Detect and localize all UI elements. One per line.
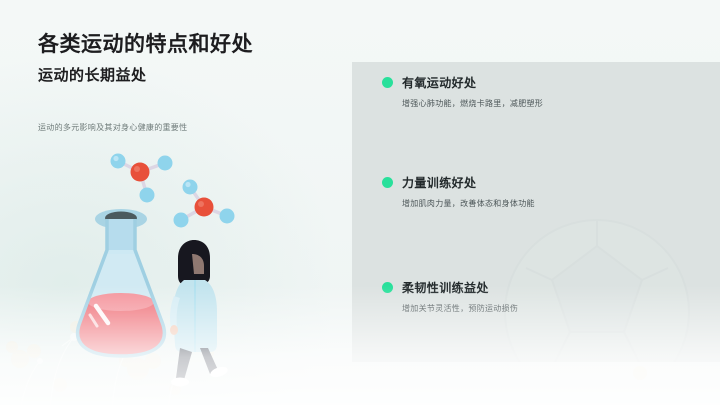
benefit-title: 有氧运动好处 — [402, 74, 476, 91]
slide-canvas: 各类运动的特点和好处 运动的长期益处 运动的多元影响及其对身心健康的重要性 — [0, 0, 720, 405]
benefit-description: 增加肌肉力量，改善体态和身体功能 — [402, 198, 702, 209]
bottom-fade-overlay — [0, 285, 720, 405]
benefit-heading: 有氧运动好处 — [382, 74, 702, 91]
page-subtitle: 运动的长期益处 — [38, 64, 147, 85]
benefit-item-aerobic[interactable]: 有氧运动好处 增强心肺功能，燃烧卡路里，减肥塑形 — [382, 74, 702, 109]
benefit-item-strength[interactable]: 力量训练好处 增加肌肉力量，改善体态和身体功能 — [382, 174, 702, 209]
bullet-dot-icon — [382, 77, 393, 88]
benefit-title: 力量训练好处 — [402, 174, 476, 191]
molecule-top-left — [111, 154, 173, 203]
benefit-description: 增强心肺功能，燃烧卡路里，减肥塑形 — [402, 98, 702, 109]
molecule-right — [174, 180, 235, 228]
benefit-heading: 力量训练好处 — [382, 174, 702, 191]
bullet-dot-icon — [382, 177, 393, 188]
page-title: 各类运动的特点和好处 — [38, 28, 253, 58]
page-tagline: 运动的多元影响及其对身心健康的重要性 — [38, 122, 187, 133]
